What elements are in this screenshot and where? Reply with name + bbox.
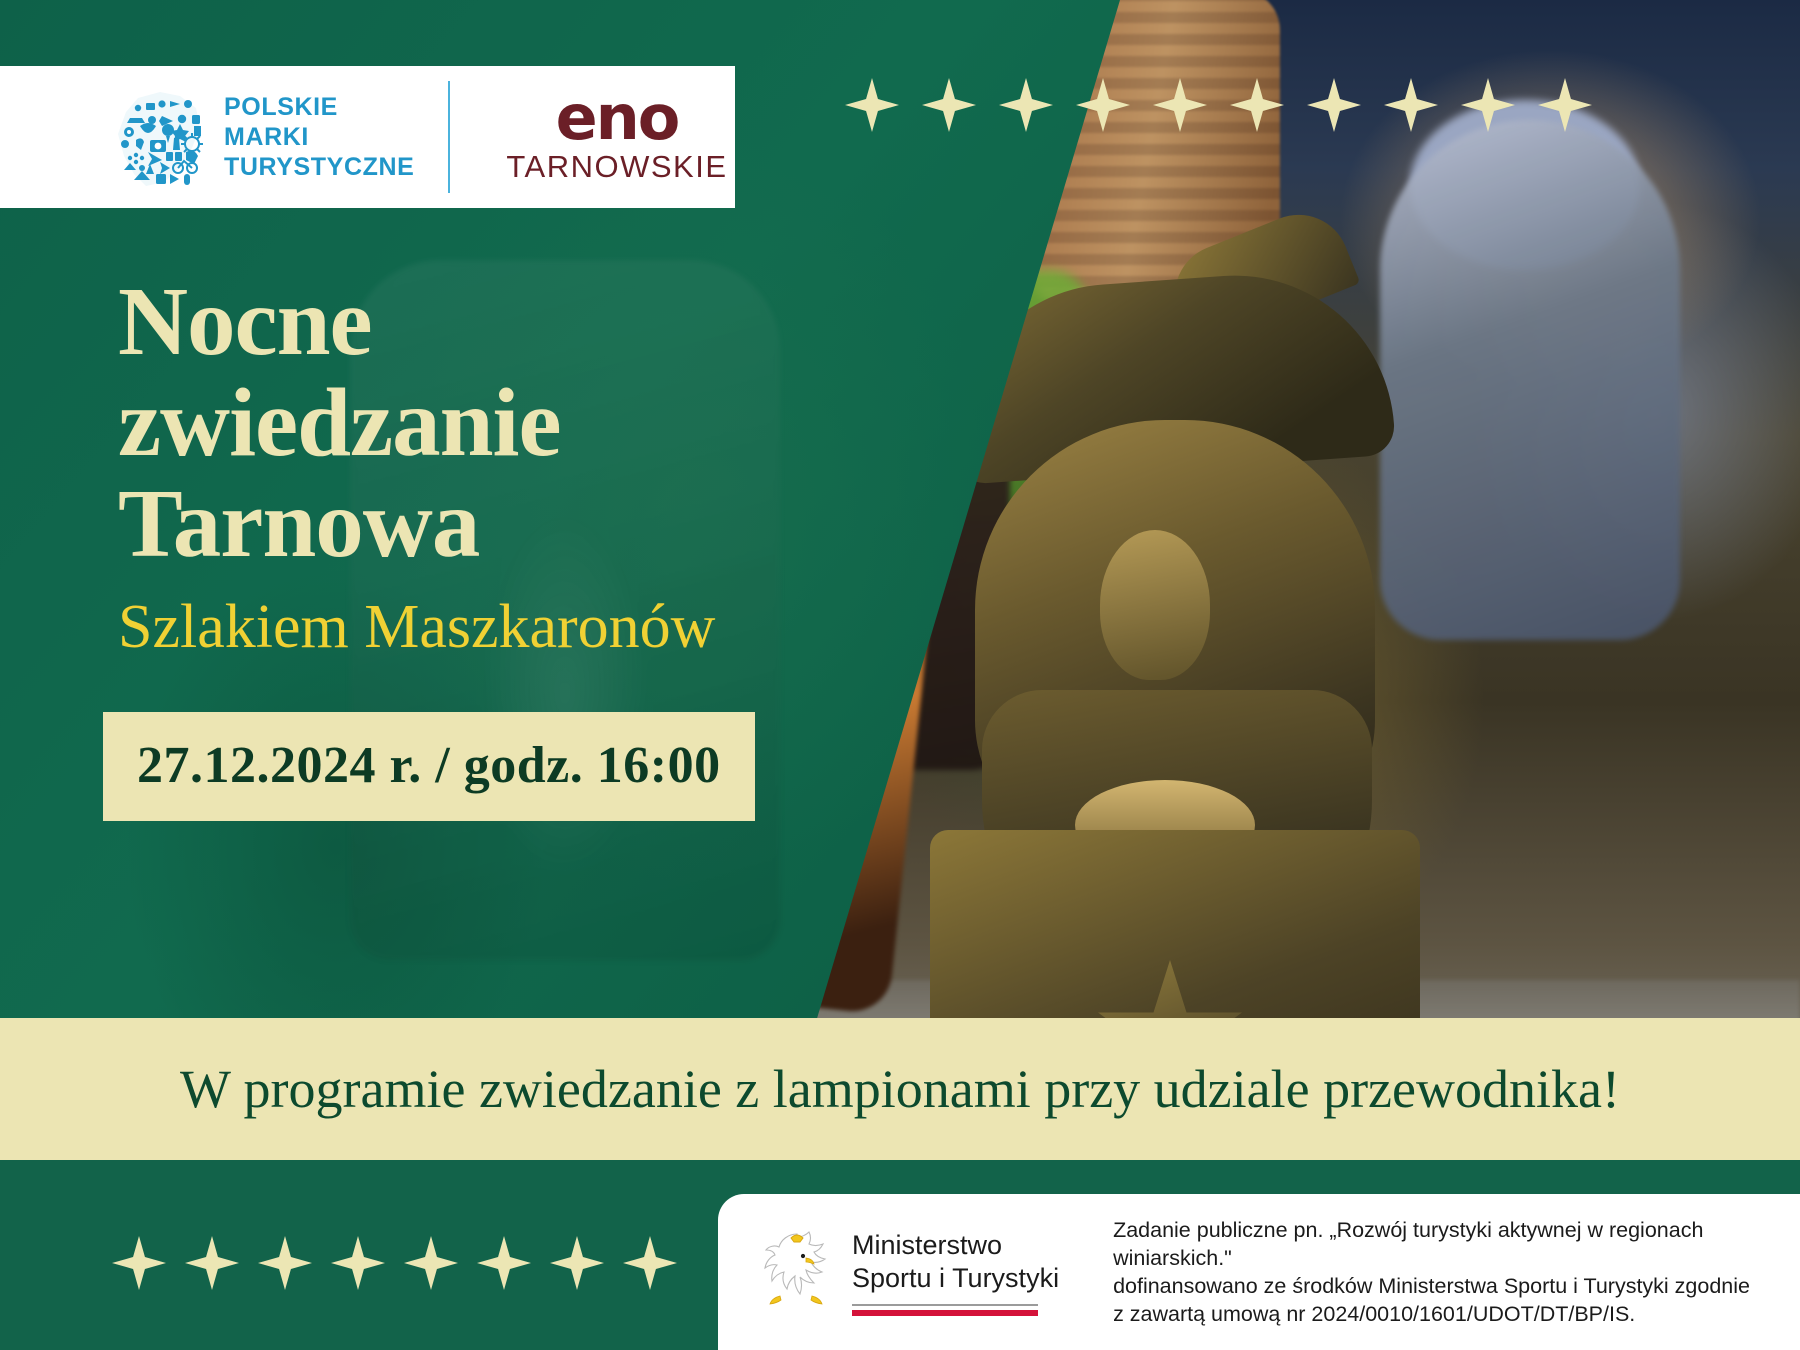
title-line-2: zwiedzanie (118, 373, 798, 474)
eno-wordmark: eno (506, 89, 727, 147)
logo-bar: POLSKIE MARKI TURYSTYCZNE eno TARNOWSKIE (0, 66, 735, 208)
polish-eagle-emblem-icon (758, 1226, 836, 1318)
four-point-star-icon (1076, 78, 1130, 132)
four-point-star-icon (845, 78, 899, 132)
pmt-line-2: MARKI (224, 122, 414, 152)
polskie-marki-turystyczne-logo: POLSKIE MARKI TURYSTYCZNE (108, 82, 414, 192)
title-line-1: Nocne (118, 272, 798, 373)
eno-subtitle: TARNOWSKIE (506, 149, 727, 185)
four-point-star-icon (1461, 78, 1515, 132)
four-point-star-icon (1538, 78, 1592, 132)
ministry-funding-card: Ministerstwo Sportu i Turystyki Zadanie … (718, 1194, 1800, 1350)
disclaimer-line-2: dofinansowano ze środków Ministerstwa Sp… (1113, 1272, 1800, 1300)
four-point-star-icon (623, 1236, 677, 1290)
ministry-wordmark: Ministerstwo Sportu i Turystyki (852, 1229, 1059, 1316)
ministry-name-line-2: Sportu i Turystyki (852, 1262, 1059, 1295)
four-point-star-icon (331, 1236, 385, 1290)
pmt-line-1: POLSKIE (224, 92, 414, 122)
disclaimer-line-3: z zawartą umową nr 2024/0010/1601/UDOT/D… (1113, 1300, 1800, 1328)
four-point-star-icon (1153, 78, 1207, 132)
pmt-line-3: TURYSTYCZNE (224, 152, 414, 182)
ministry-name-line-1: Ministerstwo (852, 1229, 1059, 1262)
date-time-badge: 27.12.2024 r. / godz. 16:00 (103, 712, 755, 821)
star-row-bottom (112, 1236, 677, 1290)
four-point-star-icon (477, 1236, 531, 1290)
page-title: Nocne zwiedzanie Tarnowa (118, 272, 798, 575)
page-subtitle: Szlakiem Maszkaronów (118, 593, 798, 661)
four-point-star-icon (922, 78, 976, 132)
program-banner: W programie zwiedzanie z lampionami przy… (0, 1018, 1800, 1160)
ministry-rule-red (852, 1310, 1038, 1316)
headline-block: Nocne zwiedzanie Tarnowa Szlakiem Maszka… (118, 272, 798, 661)
four-point-star-icon (1230, 78, 1284, 132)
four-point-star-icon (550, 1236, 604, 1290)
event-poster: POLSKIE MARKI TURYSTYCZNE eno TARNOWSKIE… (0, 0, 1800, 1350)
eno-tarnowskie-logo: eno TARNOWSKIE (506, 89, 727, 185)
funding-disclaimer: Zadanie publiczne pn. „Rozwój turystyki … (1113, 1216, 1800, 1328)
star-row-top (845, 78, 1592, 132)
title-line-3: Tarnowa (118, 474, 798, 575)
logo-divider (448, 81, 450, 193)
poland-map-icons-icon (108, 82, 206, 192)
disclaimer-line-1: Zadanie publiczne pn. „Rozwój turystyki … (1113, 1216, 1800, 1272)
four-point-star-icon (1384, 78, 1438, 132)
program-text: W programie zwiedzanie z lampionami przy… (180, 1058, 1620, 1120)
four-point-star-icon (999, 78, 1053, 132)
pmt-wordmark: POLSKIE MARKI TURYSTYCZNE (224, 92, 414, 182)
four-point-star-icon (185, 1236, 239, 1290)
ministry-rule-grey (852, 1304, 1038, 1306)
four-point-star-icon (1307, 78, 1361, 132)
four-point-star-icon (404, 1236, 458, 1290)
four-point-star-icon (112, 1236, 166, 1290)
statue-nose (1100, 530, 1210, 680)
four-point-star-icon (258, 1236, 312, 1290)
